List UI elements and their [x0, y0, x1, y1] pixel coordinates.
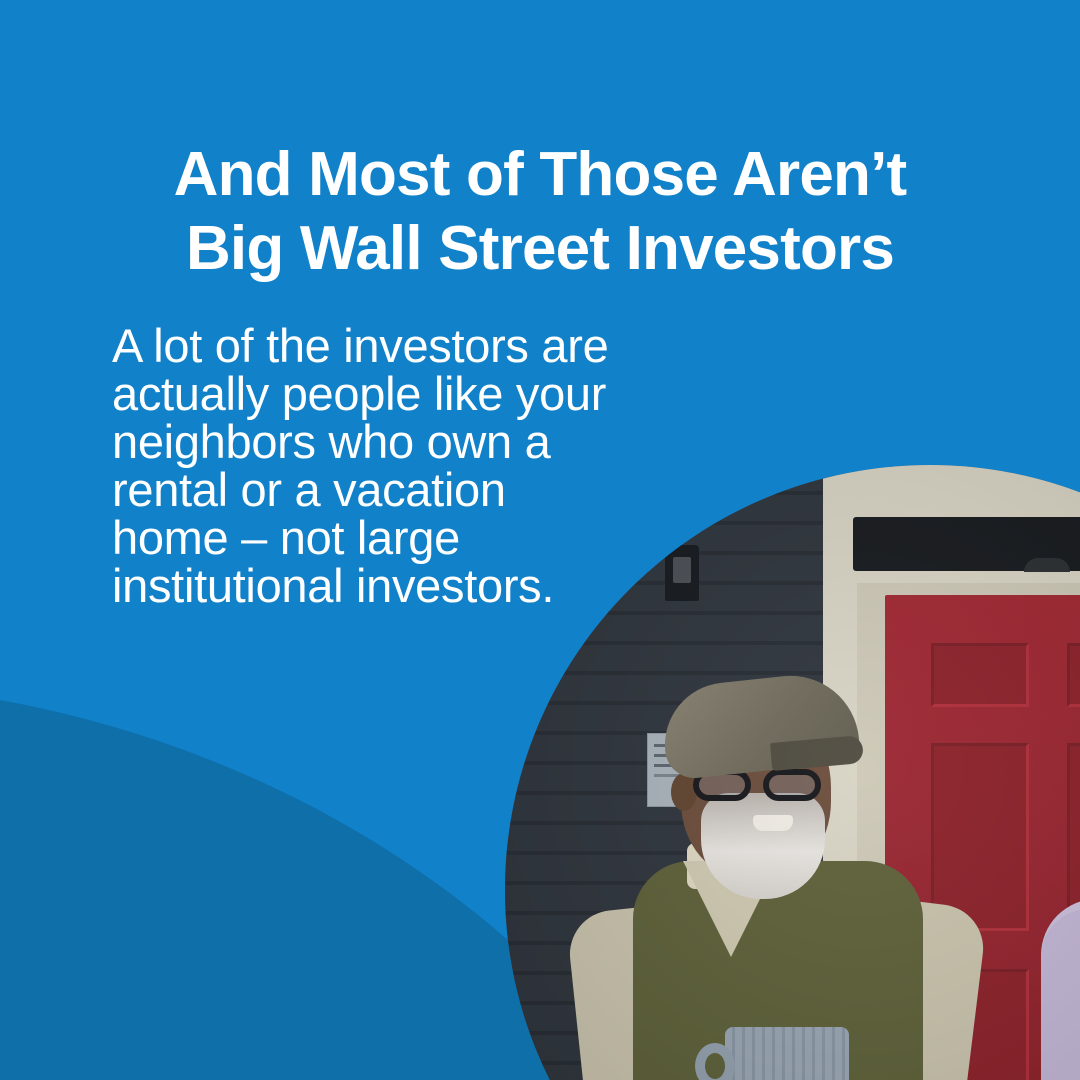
man-coffee-mug: [725, 1027, 849, 1080]
man-smile: [753, 815, 793, 831]
woman-figure: [1025, 673, 1080, 1080]
woman-cardigan-left-panel: [1041, 909, 1080, 1080]
social-card-canvas: And Most of Those Aren’t Big Wall Street…: [0, 0, 1080, 1080]
photo-scene: [505, 465, 1080, 1080]
man-figure: [575, 665, 995, 1080]
couple-porch-photo: [505, 465, 1080, 1080]
porch-light-icon: [665, 545, 699, 601]
transom-window: [853, 517, 1080, 571]
